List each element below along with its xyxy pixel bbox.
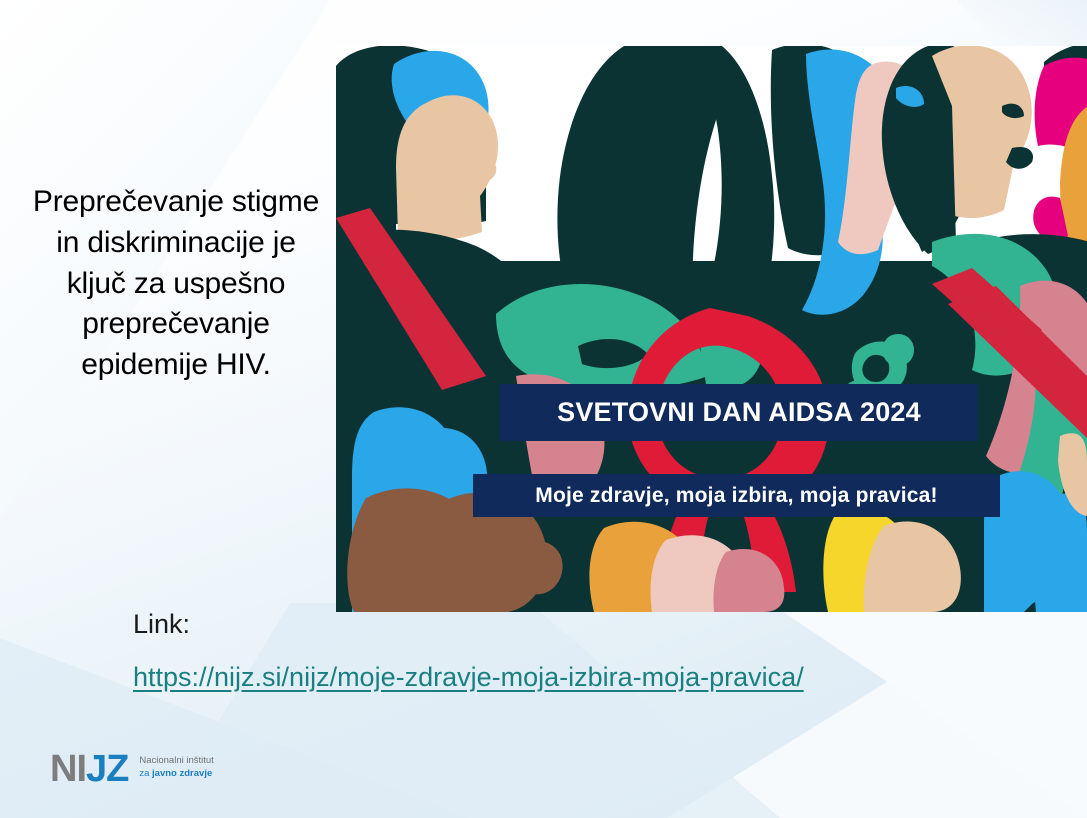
logo-tagline-javno-zdravje: javno zdravje (152, 768, 212, 779)
nijz-logo: NIJZ Nacionalni inštitut za javno zdravj… (50, 750, 214, 788)
poster-subtitle-banner: Moje zdravje, moja izbira, moja pravica! (473, 474, 1000, 517)
campaign-link[interactable]: https://nijz.si/nijz/moje-zdravje-moja-i… (133, 662, 804, 693)
logo-tagline: Nacionalni inštitut za javno zdravje (139, 755, 213, 780)
poster-illustration (336, 46, 1087, 612)
slide-body-text: Preprečevanje stigme in diskriminacije j… (26, 182, 326, 386)
logo-wordmark-jz: JZ (86, 748, 128, 790)
logo-tagline-line1: Nacionalni inštitut (139, 755, 213, 768)
presentation-slide: Preprečevanje stigme in diskriminacije j… (0, 0, 1087, 818)
logo-wordmark: NIJZ (50, 750, 128, 788)
link-label: Link: (133, 609, 190, 640)
logo-tagline-line2: za javno zdravje (139, 768, 213, 781)
logo-tagline-za: za (139, 768, 152, 779)
world-aids-day-poster[interactable] (336, 46, 1087, 612)
poster-title-banner: SVETOVNI DAN AIDSA 2024 (500, 384, 978, 441)
logo-wordmark-ni: NI (50, 748, 86, 790)
